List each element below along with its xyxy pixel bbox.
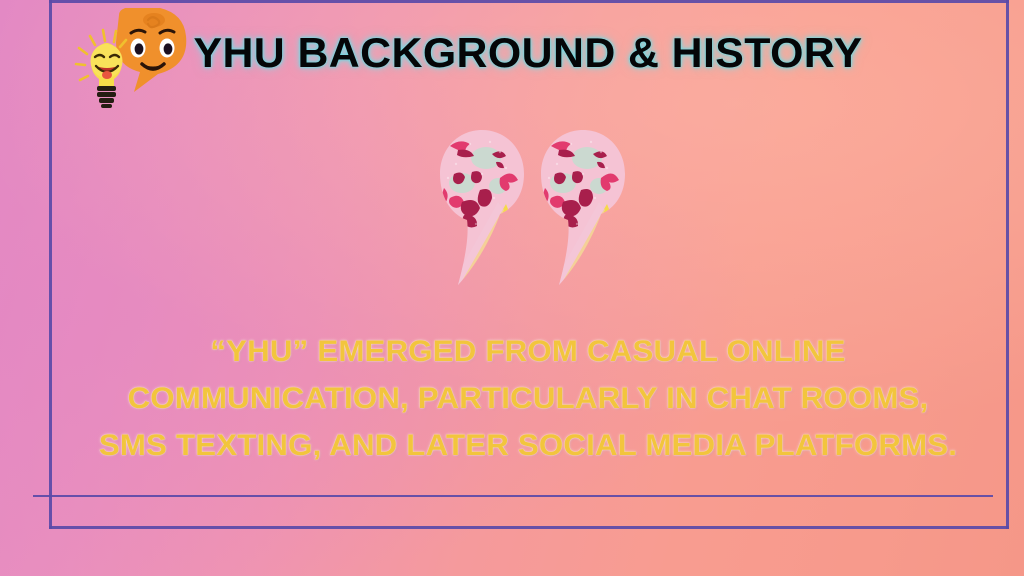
slide-body-text: “YHU” EMERGED FROM CASUAL ONLINE COMMUNI… bbox=[33, 328, 1023, 469]
body-line-1: “YHU” EMERGED FROM CASUAL ONLINE bbox=[33, 328, 1023, 375]
body-line-3: SMS TEXTING, AND LATER SOCIAL MEDIA PLAT… bbox=[33, 422, 1023, 469]
decorative-quotation-mark-icon bbox=[434, 128, 634, 288]
slide-canvas: YHU BACKGROUND & HISTORY bbox=[0, 0, 1024, 576]
frame-border-top bbox=[49, 0, 1009, 3]
body-line-2: COMMUNICATION, PARTICULARLY IN CHAT ROOM… bbox=[33, 375, 1023, 422]
frame-horizontal-rule bbox=[33, 495, 993, 497]
frame-border-bottom bbox=[49, 526, 1009, 529]
slide-title: YHU BACKGROUND & HISTORY bbox=[39, 32, 1016, 74]
